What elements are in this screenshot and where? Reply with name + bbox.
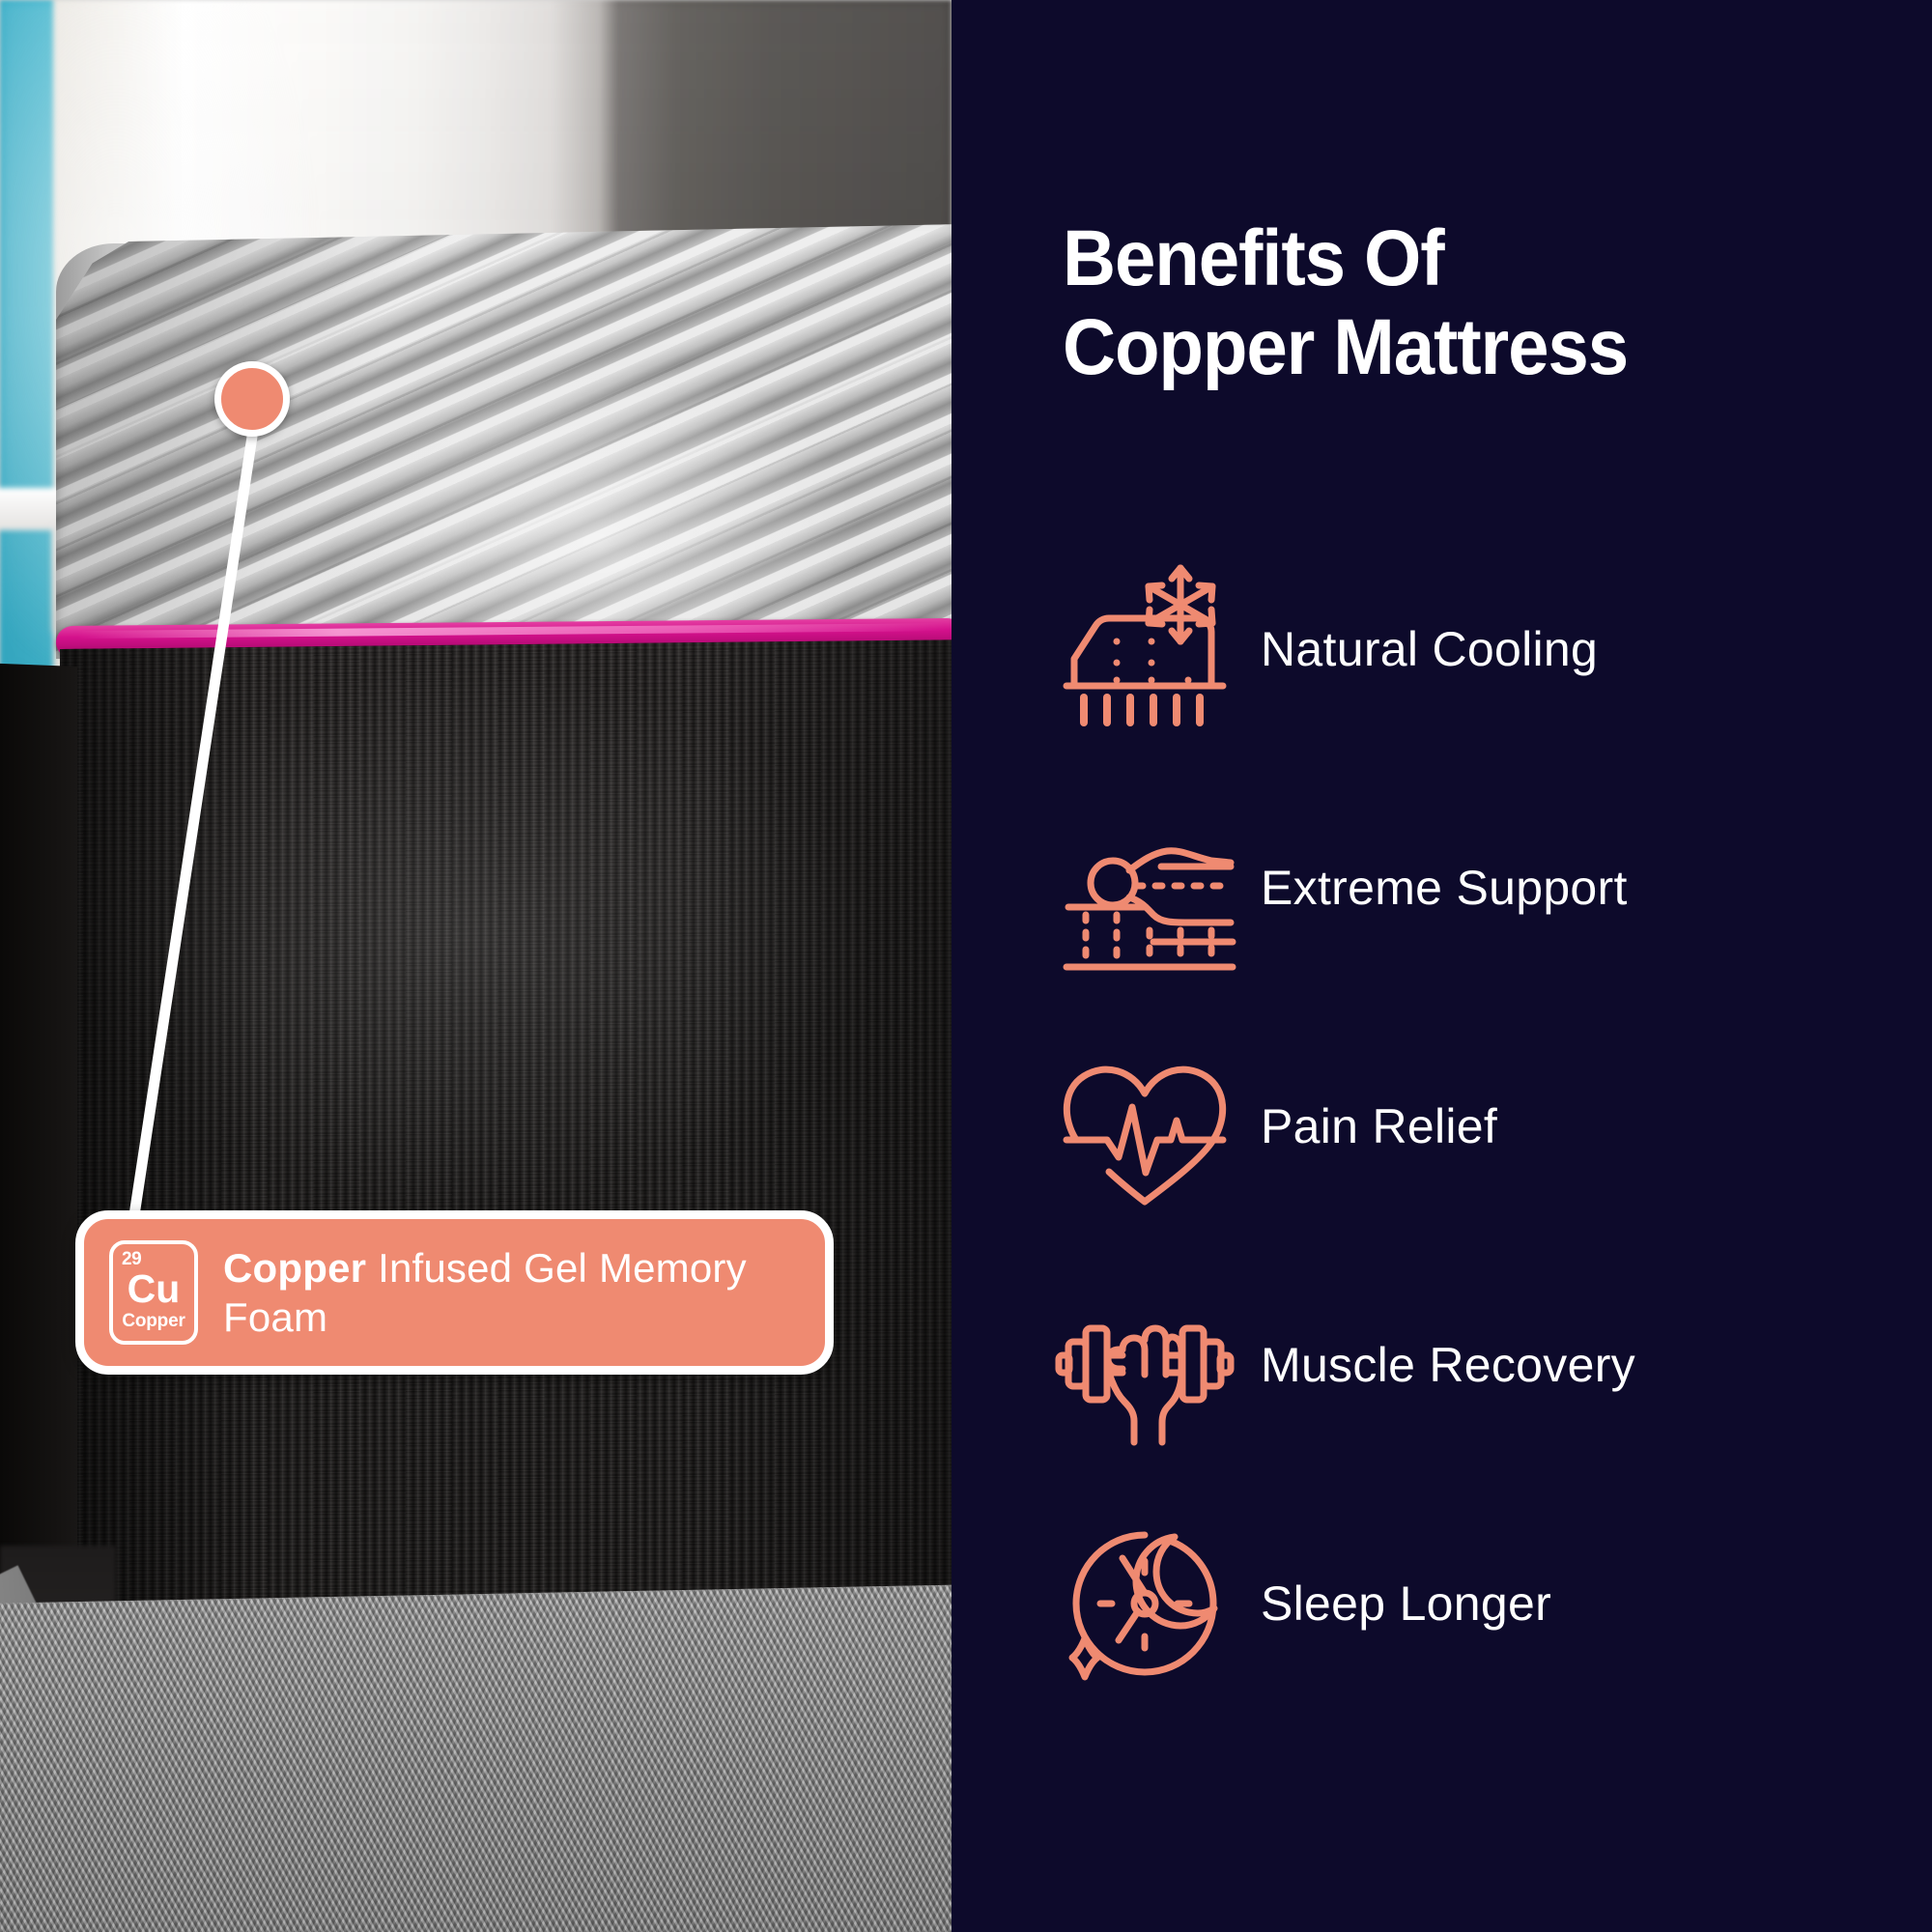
callout-dot — [214, 361, 290, 437]
benefit-item-pain-relief: Pain Relief — [1048, 1007, 1918, 1245]
clock-moon-icon — [1048, 1512, 1241, 1695]
badge-text-bold: Copper — [223, 1245, 366, 1291]
element-symbol: Cu — [113, 1269, 194, 1309]
benefit-label: Muscle Recovery — [1261, 1337, 1635, 1393]
product-photo: 29 Cu Copper Copper Infused Gel Memory F… — [0, 0, 952, 1932]
page-title-line-1: Benefits Of — [1063, 214, 1835, 303]
benefit-item-extreme-support: Extreme Support — [1048, 768, 1918, 1007]
element-name: Copper — [113, 1311, 194, 1332]
mattress-quilted-top — [56, 224, 952, 659]
bed-base-foundation — [0, 1584, 952, 1932]
copper-foam-callout-badge: 29 Cu Copper Copper Infused Gel Memory F… — [75, 1210, 834, 1375]
benefits-panel: Benefits Of Copper Mattress — [952, 0, 1932, 1932]
heart-heartbeat-icon — [1048, 1035, 1241, 1218]
page-title: Benefits Of Copper Mattress — [1063, 214, 1835, 392]
page-title-line-2: Copper Mattress — [1063, 303, 1835, 392]
benefit-item-sleep-longer: Sleep Longer — [1048, 1484, 1918, 1722]
benefit-item-natural-cooling: Natural Cooling — [1048, 529, 1918, 768]
benefit-item-muscle-recovery: Muscle Recovery — [1048, 1245, 1918, 1484]
badge-text: Copper Infused Gel Memory Foam — [223, 1243, 800, 1342]
mattress-snowflake-icon — [1048, 557, 1241, 741]
mattress-dark-body — [60, 639, 952, 1625]
periodic-element-tile-copper: 29 Cu Copper — [109, 1240, 198, 1345]
infographic-canvas: 29 Cu Copper Copper Infused Gel Memory F… — [0, 0, 1932, 1932]
benefit-label: Extreme Support — [1261, 860, 1628, 916]
mattress-left-side-shadow — [0, 664, 77, 1594]
benefits-list: Natural Cooling — [1048, 529, 1918, 1722]
person-lying-on-mattress-icon — [1048, 796, 1241, 980]
benefit-label: Pain Relief — [1261, 1098, 1497, 1154]
benefit-label: Natural Cooling — [1261, 621, 1598, 677]
benefit-label: Sleep Longer — [1261, 1576, 1551, 1632]
hand-dumbbell-icon — [1048, 1273, 1241, 1457]
